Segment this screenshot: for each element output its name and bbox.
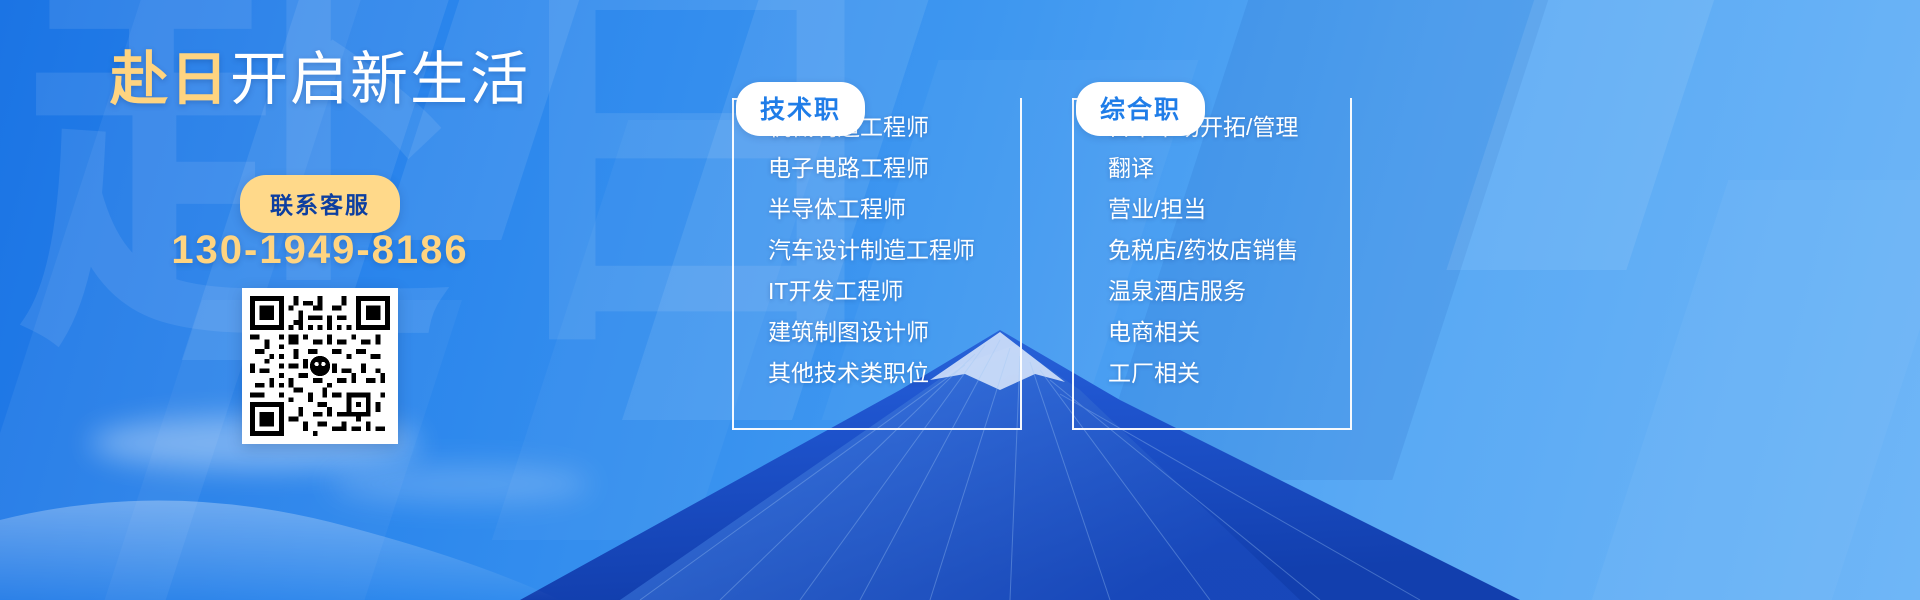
list-item[interactable]: 温泉酒店服务 <box>1108 280 1298 303</box>
list-item[interactable]: 建筑制图设计师 <box>768 321 975 344</box>
headline-highlight: 赴日 <box>110 47 230 112</box>
headline-rest: 开启新生活 <box>230 47 530 112</box>
qr-code[interactable] <box>242 288 398 444</box>
list-item[interactable]: 电商相关 <box>1108 321 1298 344</box>
list-item[interactable]: 汽车设计制造工程师 <box>768 239 975 262</box>
badge-technical-jobs[interactable]: 技术职 <box>736 82 865 136</box>
list-item[interactable]: 营业/担当 <box>1108 198 1298 221</box>
list-item[interactable]: 翻译 <box>1108 157 1298 180</box>
left-content: 赴日开启新生活 联系客服 130-1949-8186 <box>0 0 640 600</box>
list-item[interactable]: 其他技术类职位 <box>768 362 975 385</box>
list-item[interactable]: IT开发工程师 <box>768 280 975 303</box>
list-item[interactable]: 半导体工程师 <box>768 198 975 221</box>
list-item[interactable]: 免税店/药妆店销售 <box>1108 239 1298 262</box>
page-title: 赴日开启新生活 <box>0 48 640 112</box>
technical-job-list: 机械制造工程师 电子电路工程师 半导体工程师 汽车设计制造工程师 IT开发工程师… <box>768 116 975 385</box>
general-job-list: 日本市场开拓/管理 翻译 营业/担当 免税店/药妆店销售 温泉酒店服务 电商相关… <box>1108 116 1298 385</box>
qr-code-image <box>250 296 390 436</box>
phone-number: 130-1949-8186 <box>0 228 640 273</box>
list-item[interactable]: 电子电路工程师 <box>768 157 975 180</box>
promo-banner: 赴日 <box>0 0 1920 600</box>
badge-general-jobs[interactable]: 综合职 <box>1076 82 1205 136</box>
list-item[interactable]: 工厂相关 <box>1108 362 1298 385</box>
bg-slab-9 <box>1446 0 1733 270</box>
contact-support-button[interactable]: 联系客服 <box>240 175 400 233</box>
